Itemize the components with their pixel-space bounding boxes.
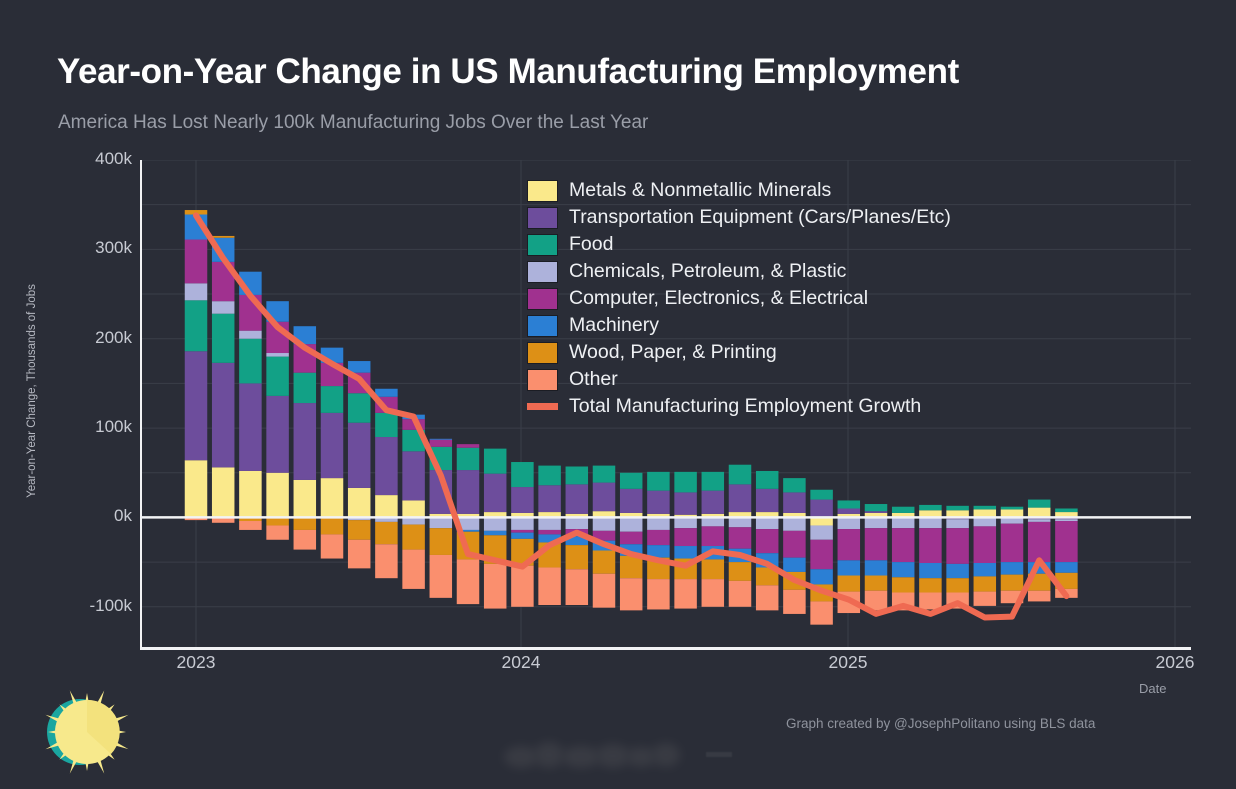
bar-segment: [1028, 522, 1051, 562]
bar-segment: [511, 533, 534, 539]
bar-segment: [484, 474, 507, 512]
bar-segment: [756, 585, 779, 610]
legend-color-swatch: [527, 207, 558, 229]
legend-item[interactable]: Total Manufacturing Employment Growth: [527, 393, 951, 420]
bar-segment: [375, 544, 398, 578]
y-tick-label: 200k: [95, 328, 132, 348]
legend-label: Total Manufacturing Employment Growth: [569, 395, 921, 418]
watermark-artifact: [500, 738, 740, 776]
bar-segment: [266, 473, 289, 518]
bar-segment: [212, 363, 235, 468]
bar-segment: [810, 540, 833, 569]
bar-segment: [538, 466, 561, 486]
bar-segment: [674, 579, 697, 608]
bar-segment: [321, 413, 344, 478]
bar-segment: [566, 517, 589, 529]
bar-segment: [1001, 562, 1024, 575]
bar-segment: [593, 550, 616, 573]
bar-segment: [538, 485, 561, 512]
bar-segment: [321, 386, 344, 413]
bar-segment: [185, 283, 208, 300]
bar-segment: [974, 592, 997, 606]
bar-segment: [865, 528, 888, 560]
bar-segment: [1001, 575, 1024, 591]
bar-segment: [484, 517, 507, 530]
bar-segment: [919, 592, 942, 609]
page-title: Year-on-Year Change in US Manufacturing …: [57, 52, 959, 92]
bar-segment: [946, 519, 969, 528]
bar-segment: [402, 550, 425, 589]
bar-segment: [620, 517, 643, 531]
legend-label: Food: [569, 233, 613, 256]
legend-label: Chemicals, Petroleum, & Plastic: [569, 260, 846, 283]
y-tick-label: -100k: [89, 596, 132, 616]
bar-segment: [566, 484, 589, 513]
bar-segment: [865, 560, 888, 575]
bar-segment: [1055, 519, 1078, 521]
legend-label: Wood, Paper, & Printing: [569, 341, 777, 364]
bar-segment: [457, 448, 480, 470]
legend-item[interactable]: Chemicals, Petroleum, & Plastic: [527, 258, 951, 285]
bar-segment: [838, 560, 861, 575]
bar-segment: [729, 527, 752, 548]
bar-segment: [1001, 518, 1024, 523]
bar-segment: [185, 300, 208, 351]
bar-segment: [185, 351, 208, 460]
bar-segment: [538, 517, 561, 530]
bar-segment: [810, 490, 833, 500]
y-tick-label: 300k: [95, 238, 132, 258]
bar-segment: [457, 444, 480, 448]
bar-segment: [620, 532, 643, 545]
legend-item[interactable]: Food: [527, 231, 951, 258]
bar-segment: [294, 403, 317, 480]
bar-segment: [375, 495, 398, 517]
bar-segment: [402, 525, 425, 550]
bar-segment: [402, 451, 425, 500]
bar-segment: [783, 531, 806, 558]
bar-segment: [756, 471, 779, 489]
bar-segment: [1001, 507, 1024, 510]
bar-segment: [946, 528, 969, 564]
bar-segment: [647, 472, 670, 491]
y-tick-label: 400k: [95, 149, 132, 169]
legend-label: Computer, Electronics, & Electrical: [569, 287, 868, 310]
bar-segment: [810, 601, 833, 624]
legend-item[interactable]: Metals & Nonmetallic Minerals: [527, 177, 951, 204]
bar-segment: [946, 506, 969, 510]
bar-segment: [430, 528, 453, 555]
bar-segment: [892, 517, 915, 528]
bar-segment: [457, 559, 480, 604]
bar-segment: [892, 562, 915, 577]
bar-segment: [185, 460, 208, 517]
chart-credit: Graph created by @JosephPolitano using B…: [786, 716, 1095, 731]
bar-segment: [674, 492, 697, 514]
bar-segment: [919, 578, 942, 592]
bar-segment: [511, 462, 534, 487]
legend-color-swatch: [527, 234, 558, 256]
bar-segment: [838, 508, 861, 513]
bar-segment: [375, 413, 398, 437]
bar-segment: [430, 555, 453, 598]
legend-item[interactable]: Other: [527, 366, 951, 393]
bar-segment: [865, 517, 888, 528]
legend-item[interactable]: Transportation Equipment (Cars/Planes/Et…: [527, 204, 951, 231]
bar-segment: [729, 562, 752, 581]
bar-segment: [783, 492, 806, 513]
bar-segment: [729, 465, 752, 485]
bar-segment: [1055, 521, 1078, 562]
bar-segment: [294, 530, 317, 550]
bar-segment: [239, 383, 262, 471]
bar-segment: [239, 521, 262, 530]
bar-segment: [919, 563, 942, 578]
bar-segment: [1028, 508, 1051, 518]
bar-segment: [974, 506, 997, 510]
bar-segment: [729, 484, 752, 512]
bar-segment: [321, 478, 344, 517]
bar-segment: [702, 491, 725, 514]
bar-segment: [892, 528, 915, 562]
legend-item[interactable]: Computer, Electronics, & Electrical: [527, 285, 951, 312]
bar-segment: [239, 339, 262, 384]
legend-color-swatch: [527, 288, 558, 310]
bar-segment: [892, 507, 915, 513]
bar-segment: [375, 522, 398, 544]
chart-subtitle: America Has Lost Nearly 100k Manufacturi…: [58, 112, 648, 134]
bar-segment: [674, 528, 697, 546]
bar-segment: [375, 437, 398, 495]
bar-segment: [212, 301, 235, 314]
bar-segment: [430, 517, 453, 528]
bar-segment: [593, 574, 616, 608]
bar-segment: [566, 545, 589, 569]
legend-color-swatch: [527, 342, 558, 364]
bar-segment: [430, 440, 453, 447]
bar-segment: [348, 488, 371, 517]
bar-segment: [702, 526, 725, 546]
bar-segment: [674, 546, 697, 559]
sun-logo: [30, 686, 150, 778]
bar-segment: [620, 489, 643, 513]
bar-segment: [729, 581, 752, 607]
bar-segment: [674, 472, 697, 493]
legend-color-swatch: [527, 180, 558, 202]
bar-segment: [783, 590, 806, 614]
bar-segment: [348, 540, 371, 569]
legend-label: Other: [569, 368, 618, 391]
bar-segment: [974, 576, 997, 591]
bar-segment: [702, 517, 725, 526]
bar-segment: [756, 517, 779, 529]
y-tick-label: 100k: [95, 417, 132, 437]
legend-item[interactable]: Machinery: [527, 312, 951, 339]
bar-segment: [946, 578, 969, 592]
bar-segment: [484, 449, 507, 474]
bar-segment: [348, 423, 371, 488]
bar-segment: [674, 517, 697, 528]
bar-segment: [838, 576, 861, 592]
bar-segment: [266, 357, 289, 396]
bar-segment: [838, 517, 861, 529]
legend-line-swatch: [527, 403, 558, 410]
bar-segment: [294, 517, 317, 530]
bar-segment: [620, 473, 643, 489]
legend-color-swatch: [527, 369, 558, 391]
y-axis-label: Year-on-Year Change, Thousands of Jobs: [26, 226, 38, 556]
bar-segment: [321, 534, 344, 558]
bar-segment: [647, 491, 670, 514]
bar-segment: [266, 353, 289, 357]
bar-segment: [430, 439, 453, 440]
bar-segment: [865, 576, 888, 591]
bar-segment: [321, 518, 344, 534]
bar-segment: [484, 531, 507, 535]
bar-segment: [484, 564, 507, 609]
bar-segment: [647, 517, 670, 530]
bar-segment: [566, 569, 589, 605]
bar-segment: [838, 529, 861, 560]
legend-label: Transportation Equipment (Cars/Planes/Et…: [569, 206, 951, 229]
bar-segment: [647, 579, 670, 609]
legend-color-swatch: [527, 315, 558, 337]
bar-segment: [239, 471, 262, 517]
bar-segment: [810, 500, 833, 518]
bar-segment: [946, 564, 969, 578]
bar-segment: [294, 480, 317, 518]
bar-segment: [620, 578, 643, 610]
bar-segment: [457, 470, 480, 514]
bar-segment: [511, 530, 534, 533]
bar-segment: [593, 483, 616, 512]
bar-segment: [538, 530, 561, 534]
bar-segment: [974, 563, 997, 576]
bar-segment: [402, 500, 425, 517]
bar-segment: [212, 236, 235, 238]
bar-segment: [511, 517, 534, 530]
bar-segment: [1055, 562, 1078, 573]
bar-segment: [1055, 508, 1078, 512]
bar-segment: [620, 556, 643, 578]
bar-segment: [294, 373, 317, 403]
bar-segment: [1028, 500, 1051, 508]
chart-legend: Metals & Nonmetallic MineralsTransportat…: [527, 177, 951, 420]
chart-canvas: Year-on-Year Change in US Manufacturing …: [0, 0, 1236, 789]
bar-segment: [239, 331, 262, 339]
bar-segment: [838, 500, 861, 508]
bar-segment: [756, 489, 779, 512]
bar-segment: [729, 517, 752, 527]
bar-segment: [810, 569, 833, 584]
bar-segment: [348, 393, 371, 422]
bar-segment: [1028, 519, 1051, 522]
bar-segment: [1001, 524, 1024, 562]
bar-segment: [974, 518, 997, 526]
bar-segment: [783, 517, 806, 530]
bar-segment: [538, 567, 561, 605]
bar-segment: [783, 558, 806, 572]
bar-segment: [702, 559, 725, 579]
y-tick-label: 0k: [114, 506, 132, 526]
bar-segment: [266, 396, 289, 473]
bar-segment: [593, 517, 616, 530]
bar-segment: [647, 530, 670, 545]
bar-segment: [566, 466, 589, 484]
legend-label: Machinery: [569, 314, 659, 337]
bar-segment: [919, 518, 942, 528]
bar-segment: [511, 566, 534, 607]
bar-segment: [375, 389, 398, 397]
legend-label: Metals & Nonmetallic Minerals: [569, 179, 831, 202]
bar-segment: [810, 525, 833, 539]
bar-segment: [892, 577, 915, 592]
bar-segment: [702, 472, 725, 491]
bar-segment: [266, 525, 289, 539]
x-axis-label: Date: [1139, 681, 1166, 696]
bar-segment: [974, 526, 997, 563]
bar-segment: [702, 579, 725, 607]
legend-item[interactable]: Wood, Paper, & Printing: [527, 339, 951, 366]
bar-segment: [865, 504, 888, 511]
bar-segment: [756, 529, 779, 553]
bar-segment: [348, 520, 371, 540]
bar-segment: [919, 528, 942, 563]
bar-segment: [185, 240, 208, 284]
bar-segment: [593, 466, 616, 483]
bar-segment: [212, 467, 235, 517]
bar-segment: [348, 361, 371, 373]
bar-segment: [783, 478, 806, 492]
bar-segment: [212, 314, 235, 363]
bar-segment: [1028, 591, 1051, 602]
bar-segment: [865, 511, 888, 513]
bar-segment: [511, 487, 534, 513]
bar-segment: [919, 505, 942, 510]
legend-color-swatch: [527, 261, 558, 283]
